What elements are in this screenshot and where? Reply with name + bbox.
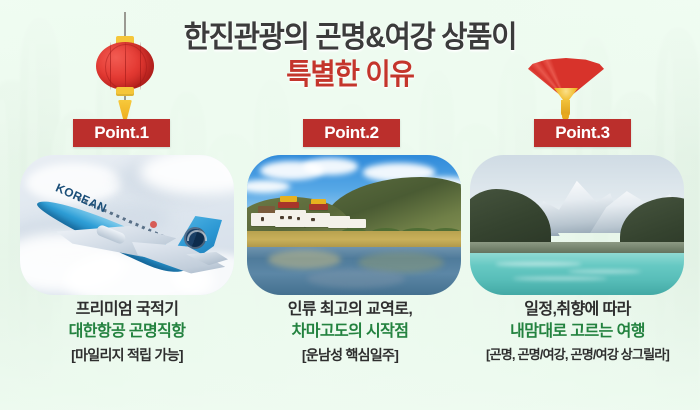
point-badge-2[interactable]: Point.2 [303,119,400,147]
lake [247,247,461,295]
taeguk-logo-icon [184,227,206,249]
reflection [268,250,341,269]
caption-line-3: [곤명, 곤명/여강, 곤명/여강 상그릴라] [455,347,700,364]
promo-banner: 한진관광의 곤명&여강 상품이 특별한 이유 Point.1 Point.2 P… [0,0,700,410]
water-reflection [513,277,607,280]
point-badge-3[interactable]: Point.3 [534,119,631,147]
point-photo-3[interactable] [470,155,684,295]
window [311,218,315,221]
window [288,216,292,220]
point-badge-1[interactable]: Point.1 [73,119,170,147]
point-caption-3: 일정,취향에 따라 내맘대로 고르는 여행 [곤명, 곤명/여강, 곤명/여강 … [455,300,700,364]
point-photo-2[interactable] [247,155,461,295]
window [261,217,265,221]
caption-line-1: 일정,취향에 따라 [455,300,700,320]
point-caption-2: 인류 최고의 교역로, 차마고도의 시작점 [운남성 핵심일주] [230,300,470,365]
white-building [347,219,366,228]
water-reflection [496,262,582,265]
caption-line-2: 내맘대로 고르는 여행 [455,322,700,342]
turquoise-lake [470,253,684,295]
caption-line-3: [마일리지 적립 가능] [7,347,247,365]
point-photo-1[interactable]: KOREAN [20,155,234,295]
fan-handle [561,100,570,117]
photo-monastery [247,155,461,295]
photo-snow-mountain [470,155,684,295]
lantern-tassel [118,100,132,120]
photo-korean-air: KOREAN [20,155,234,295]
red-wall [278,202,300,208]
caption-line-1: 프리미엄 국적기 [7,300,247,320]
cloud [303,158,359,175]
cloud [247,180,290,193]
header: 한진관광의 곤명&여강 상품이 특별한 이유 [0,0,700,118]
caption-line-1: 인류 최고의 교역로, [230,300,470,320]
red-wall [309,204,328,210]
window [280,216,284,220]
building [258,206,275,213]
title-line-1: 한진관광의 곤명&여강 상품이 [18,22,683,54]
point-caption-1: 프리미엄 국적기 대한항공 곤명직항 [마일리지 적립 가능] [7,300,247,365]
red-folding-fan-icon [528,58,604,128]
reflection [307,269,405,288]
white-building [251,213,277,226]
caption-line-2: 차마고도의 시작점 [230,322,470,342]
caption-line-2: 대한항공 곤명직항 [7,322,247,342]
white-building [304,213,330,227]
fuselage-marking [150,221,157,228]
airplane: KOREAN [38,181,220,277]
caption-line-3: [운남성 핵심일주] [230,347,470,365]
water-reflection [568,270,641,273]
